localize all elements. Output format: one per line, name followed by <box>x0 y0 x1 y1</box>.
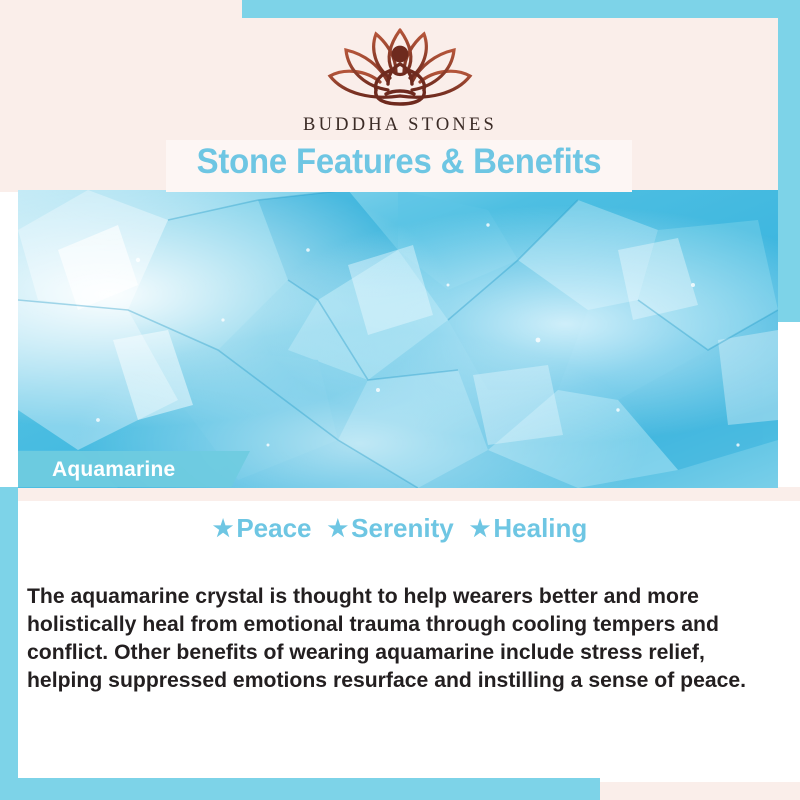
benefit-item-peace: ★Peace <box>213 513 312 543</box>
star-icon: ★ <box>213 515 234 541</box>
star-icon: ★ <box>470 515 491 541</box>
aquamarine-crystal-photo <box>18 190 778 488</box>
benefit-item-serenity: ★Serenity <box>328 513 454 543</box>
star-icon: ★ <box>328 515 349 541</box>
page-title: Stone Features & Benefits <box>180 142 618 182</box>
stone-name-label: Aquamarine <box>52 458 175 482</box>
stone-description: The aquamarine crystal is thought to hel… <box>27 582 760 695</box>
benefit-item-healing: ★Healing <box>470 513 588 543</box>
brand-logo: BUDDHA STONES <box>0 24 800 136</box>
benefit-label: Healing <box>493 513 587 543</box>
benefit-keywords: ★Peace★Serenity★Healing <box>18 513 782 544</box>
cream-divider-strip <box>18 487 800 501</box>
benefit-label: Serenity <box>351 513 454 543</box>
accent-band-left <box>0 487 18 800</box>
brand-name: BUDDHA STONES <box>0 115 800 136</box>
lotus-meditation-icon <box>0 24 800 110</box>
infographic-page: BUDDHA STONES Stone Features & Benefits <box>0 0 800 800</box>
benefit-label: Peace <box>236 513 311 543</box>
accent-band-bottom <box>0 778 600 800</box>
accent-band-top <box>242 0 800 18</box>
